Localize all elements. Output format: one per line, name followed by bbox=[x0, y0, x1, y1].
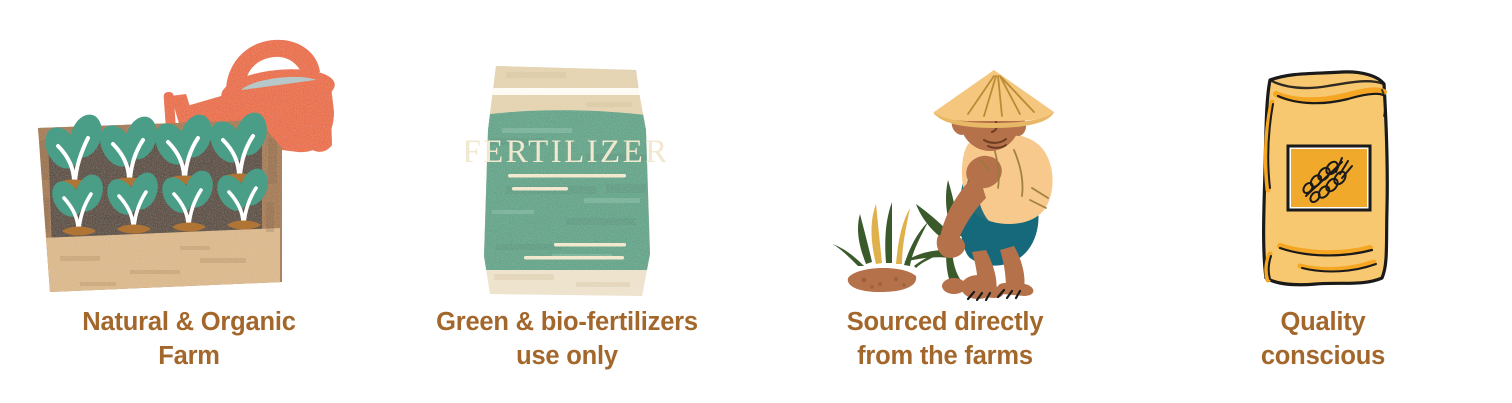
feature-caption-sourced-directly: Sourced directly from the farms bbox=[756, 306, 1134, 373]
conical-straw-hat-icon bbox=[934, 70, 1054, 128]
grain-sack-icon bbox=[1236, 58, 1416, 303]
feature-item-natural-organic-farm[interactable]: Natural & Organic Farm bbox=[0, 0, 378, 403]
feature-item-green-bio-fertilizers[interactable]: FERTILIZER Green & bio-fertilizers use o… bbox=[378, 0, 756, 403]
feature-illustration-wrapper: FERTILIZER bbox=[378, 0, 756, 300]
feature-illustration-wrapper bbox=[0, 0, 378, 300]
garden-bed-with-watering-can-icon bbox=[30, 20, 350, 300]
feature-caption-natural-organic-farm: Natural & Organic Farm bbox=[0, 306, 378, 373]
feature-caption-green-bio-fertilizers: Green & bio-fertilizers use only bbox=[378, 306, 756, 373]
sack-label-panel bbox=[1288, 146, 1370, 210]
fertilizer-bag-icon: FERTILIZER bbox=[466, 58, 666, 303]
features-strip: Natural & Organic Farm bbox=[0, 0, 1512, 403]
feature-illustration-wrapper bbox=[1134, 0, 1512, 300]
feature-item-sourced-directly[interactable]: Sourced directly from the farms bbox=[756, 0, 1134, 403]
bag-label-text: FERTILIZER bbox=[466, 134, 666, 170]
feature-illustration-wrapper bbox=[756, 0, 1134, 300]
farmer-planting-seedling-icon bbox=[818, 68, 1068, 303]
feature-item-quality-conscious[interactable]: Quality conscious bbox=[1134, 0, 1512, 403]
feature-caption-quality-conscious: Quality conscious bbox=[1134, 306, 1512, 373]
